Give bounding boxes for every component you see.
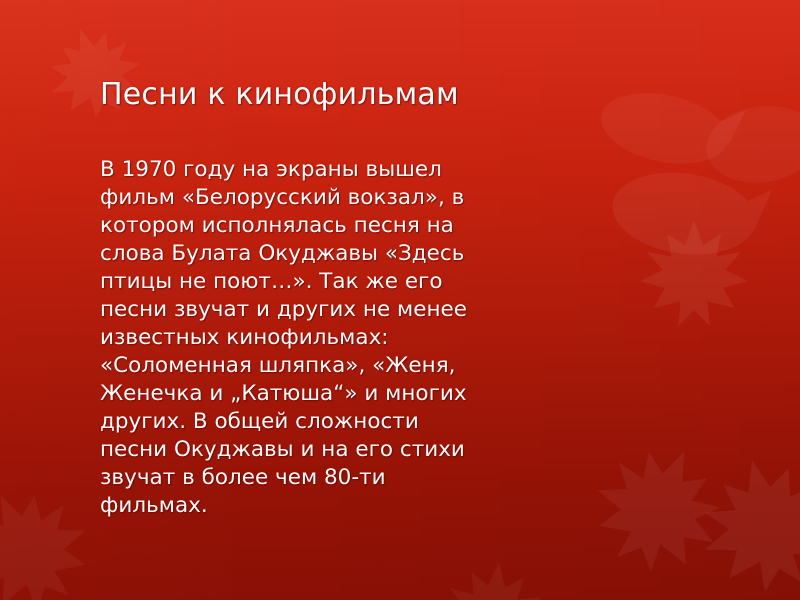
maple-leaf-icon [584, 71, 749, 188]
maple-leaf-icon [565, 420, 747, 600]
maple-leaf-icon [600, 151, 775, 277]
maple-leaf-icon [638, 216, 750, 344]
page-title: Песни к кинофильмам [100, 78, 480, 112]
maple-leaf-icon [432, 555, 554, 600]
maple-leaf-icon [683, 437, 800, 600]
slide-body-text: В 1970 году на экраны вышел фильм «Белор… [100, 112, 480, 520]
maple-leaf-icon [698, 88, 800, 200]
presentation-slide: Песни к кинофильмам В 1970 году на экран… [0, 0, 800, 600]
slide-content: Песни к кинофильмам В 1970 году на экран… [100, 78, 480, 520]
